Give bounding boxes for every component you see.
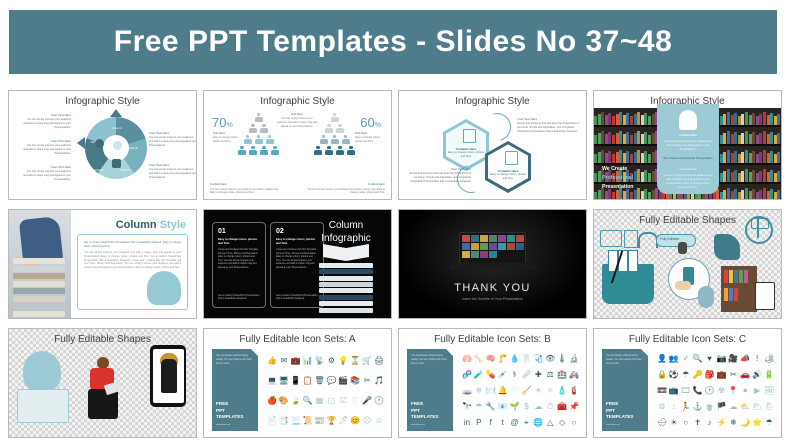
book-spine — [598, 133, 601, 144]
book-spine — [745, 112, 748, 125]
book-spine — [623, 153, 626, 163]
book-spine — [619, 150, 622, 163]
slide-7-subtitle: Insert the Subtitle of Your Presentation — [399, 297, 586, 301]
icon-46-icon: ⌖ — [524, 419, 529, 427]
book-spine — [738, 154, 741, 163]
book-spine — [605, 153, 608, 163]
icon-45-icon: ♪ — [708, 419, 712, 427]
icon-32-icon: ↕ — [672, 403, 676, 411]
slide-5-title: Column Style — [116, 219, 186, 231]
book-spine — [741, 152, 744, 163]
content-panel: Contents Here You can simply impress you… — [657, 104, 719, 194]
book-spine — [644, 151, 647, 163]
people-pyramid-left — [238, 113, 279, 157]
icon-35-icon: 📰 — [315, 417, 325, 425]
icon-8-icon: 👁 — [545, 355, 555, 363]
book-spine — [720, 135, 723, 144]
book-spine — [770, 113, 773, 125]
icon-6-icon: 🦷 — [521, 355, 531, 363]
icon-39-icon: 🧰 — [557, 403, 567, 411]
icon-23-icon: 🍃 — [291, 397, 301, 405]
book-spine — [723, 171, 726, 182]
book-spine — [641, 134, 644, 144]
book-spine — [644, 170, 647, 182]
icon-20-icon: 🎵 — [374, 377, 384, 385]
book-spine — [756, 135, 759, 144]
icon-27-icon: ☑ — [340, 397, 347, 405]
stat-note-left: Text Here Easy to change colors, photos … — [213, 132, 239, 144]
chart-icon — [112, 159, 121, 168]
free-ppt-templates-card: You can Resize without losing quality. Y… — [407, 349, 453, 431]
book-spine — [616, 114, 619, 125]
book-spine — [741, 114, 744, 125]
book-spine — [652, 190, 655, 199]
book-spine — [652, 171, 655, 182]
card-brand: FREE PPT TEMPLATES — [216, 401, 243, 420]
book-spine — [612, 154, 615, 163]
laptop-graphic — [451, 232, 535, 276]
slide-7-title: THANK YOU — [399, 282, 586, 294]
icon-1-icon: 🫁 — [462, 355, 472, 363]
icon-32-icon: ☂ — [475, 403, 482, 411]
slide-thumbnail-3[interactable]: Infographic Style Contents Here Easy to … — [398, 90, 587, 200]
slide-thumbnail-9[interactable]: Fully Editable Shapes — [8, 328, 197, 438]
icon-3-icon: 🧠 — [486, 355, 496, 363]
book-spine — [601, 150, 604, 163]
icon-50-icon: ☂ — [765, 419, 772, 427]
icon-13-icon: 📱 — [291, 377, 301, 385]
book-spine — [720, 116, 723, 125]
book-spine — [641, 191, 644, 199]
panel-mid-heading: We Create Professional Presentation — [662, 156, 714, 161]
book-spine — [612, 135, 615, 144]
icon-35-icon: 🍵 — [705, 403, 715, 411]
book-spine — [767, 134, 770, 144]
slide-thumbnail-4[interactable]: Infographic Style Contents Here You can … — [593, 90, 782, 200]
icon-15-icon: ⚕ — [512, 371, 516, 379]
icon-36-icon: 🏴 — [716, 403, 726, 411]
slide-thumbnail-7[interactable]: THANK YOU Insert the Subtitle of Your Pr… — [398, 209, 587, 319]
slide-thumbnail-5[interactable]: Column Style Get a modern PowerPoint Pre… — [8, 209, 197, 319]
stat-value-left: 70% — [212, 115, 233, 130]
icon-35-icon: 🌱 — [510, 403, 520, 411]
icon-34-icon: 📧 — [498, 403, 508, 411]
icon-47-icon: ❄ — [730, 419, 737, 427]
open-book-graphic — [323, 246, 369, 260]
icon-31-icon: 🔭 — [462, 403, 472, 411]
icon-14-icon: 📋 — [303, 377, 313, 385]
card-brand: FREE PPT TEMPLATES — [411, 401, 438, 420]
book-spine — [626, 151, 629, 163]
icon-37-icon: ☁ — [534, 403, 542, 411]
book-spine — [777, 114, 780, 125]
icon-14-icon: 💉 — [498, 371, 508, 379]
book-spine — [637, 169, 640, 182]
icon-48-icon: △ — [547, 419, 553, 427]
book-spine — [752, 113, 755, 125]
book-spine — [767, 115, 770, 125]
icon-5-icon: 💧 — [510, 355, 520, 363]
icon-7-icon: 💡 — [338, 357, 348, 365]
book-spine — [634, 114, 637, 125]
editable-pill-button[interactable]: Fully Editable — [656, 234, 696, 247]
book-spine — [598, 152, 601, 163]
computer-mouse-icon — [698, 286, 714, 308]
slide-3-callout: Your Text Here Simple and Contents that … — [517, 117, 579, 133]
icon-29-icon: 🎤 — [362, 397, 372, 405]
panel-sub-body: You can simply impress your audience and… — [662, 174, 714, 190]
icon-17-icon: ✂ — [730, 371, 737, 379]
icon-11-icon: 💻 — [267, 377, 277, 385]
book-spine — [770, 189, 773, 199]
icon-34-icon: 📜 — [303, 417, 313, 425]
book-spine — [723, 190, 726, 199]
icon-3-icon: 💼 — [291, 357, 301, 365]
book-spine — [727, 112, 730, 125]
monitor-icon — [600, 230, 622, 247]
icon-36-icon: $ — [524, 403, 528, 411]
hexagon-shape-2 — [485, 141, 531, 193]
icon-41-icon: in — [464, 419, 470, 427]
book-spine — [770, 170, 773, 182]
book-spine — [731, 115, 734, 125]
template-gallery-page: Free PPT Templates - Slides No 37~48 Inf… — [0, 0, 786, 445]
center-note: Text Here You can simply impress your au… — [276, 113, 318, 128]
gear-icon — [95, 139, 104, 148]
icon-18-icon: 📚 — [350, 377, 360, 385]
icon-9-icon: 🛒 — [362, 357, 372, 365]
icon-6-icon: ⚙ — [328, 357, 335, 365]
book-spine — [745, 188, 748, 199]
slide-3-title: Infographic Style — [399, 96, 586, 107]
book-spine — [731, 191, 734, 199]
people-pyramid-right — [314, 113, 355, 157]
book-spine — [720, 173, 723, 182]
book-spine — [777, 171, 780, 182]
book-spine — [612, 116, 615, 125]
book-spine — [734, 113, 737, 125]
icon-45-icon: @ — [510, 419, 518, 427]
slide-11-title: Fully Editable Icon Sets: B — [399, 334, 586, 345]
book-spine — [634, 133, 637, 144]
icon-6-icon: 📷 — [716, 355, 726, 363]
book-spine — [630, 192, 633, 199]
book-spine — [763, 150, 766, 163]
icon-18-icon: 🚗 — [740, 371, 750, 379]
book-spine — [619, 112, 622, 125]
icon-21-icon: 📼 — [657, 387, 667, 395]
icon-10-icon: 🖨 — [374, 357, 384, 365]
icon-29-icon: ▶ — [754, 387, 760, 395]
slide-1-callout: Your Text Here You can simply impress yo… — [149, 163, 196, 179]
book-spine — [741, 171, 744, 182]
book-spine — [648, 116, 651, 125]
book-spine — [770, 132, 773, 144]
book-spine — [731, 172, 734, 182]
icon-26-icon: ☢ — [718, 387, 725, 395]
man-with-tablet-figure — [83, 357, 123, 423]
slide-thumbnail-6[interactable]: 01 Easy to change colors, photos and Tex… — [203, 209, 392, 319]
icon-1-icon: 👍 — [267, 357, 277, 365]
icon-4-icon: 📊 — [303, 357, 313, 365]
icon-25-icon: ♡ — [511, 387, 518, 395]
icon-4-icon: 🦵 — [498, 355, 508, 363]
book-spine — [608, 113, 611, 125]
icon-19-icon: ✂ — [364, 377, 371, 385]
slide-thumbnail-11[interactable]: Fully Editable Icon Sets: B You can Resi… — [398, 328, 587, 438]
book-spine — [734, 132, 737, 144]
reading-person-shape — [714, 234, 740, 260]
book-spine — [745, 169, 748, 182]
free-ppt-templates-card: You can Resize without losing quality. Y… — [212, 349, 258, 431]
book-spine — [752, 170, 755, 182]
slide-1-title: Infographic Style — [9, 96, 196, 107]
slide-10-title: Fully Editable Icon Sets: A — [204, 334, 391, 345]
page-title: Free PPT Templates - Slides No 37~48 — [114, 25, 673, 59]
book-spine — [767, 191, 770, 199]
icon-7-icon: 🩺 — [533, 355, 543, 363]
book-spine — [623, 115, 626, 125]
book-spine — [594, 192, 597, 199]
icon-12-icon: 🧪 — [474, 371, 484, 379]
book-spine — [619, 131, 622, 144]
book-spine — [601, 131, 604, 144]
column-body-text: You can simply impress your audience and… — [84, 251, 181, 270]
book-spine — [644, 113, 647, 125]
icon-40-icon: 📌 — [569, 403, 579, 411]
icon-38-icon: ⏱ — [547, 403, 553, 411]
book-spine — [777, 152, 780, 163]
icon-30-icon: 🕐 — [374, 397, 384, 405]
wheel-segment-label: Option B — [125, 147, 141, 150]
book-spine — [648, 154, 651, 163]
book-spine — [749, 191, 752, 199]
book-spine — [777, 190, 780, 199]
icon-42-icon: P — [476, 419, 481, 427]
icon-19-icon: 🔊 — [752, 371, 762, 379]
book-spine — [763, 112, 766, 125]
book-spine — [630, 135, 633, 144]
book-spine — [623, 134, 626, 144]
hexagon-label-2: Contents Here Easy to change colors, pho… — [488, 169, 528, 181]
icon-43-icon: f — [490, 419, 492, 427]
icon-32-icon: 📑 — [279, 417, 289, 425]
slide-9-title: Fully Editable Shapes — [9, 334, 196, 345]
book-spine — [652, 133, 655, 144]
book-spine — [626, 113, 629, 125]
book-spine — [630, 154, 633, 163]
icon-41-icon: 🌧 — [657, 419, 667, 427]
icon-11-icon: 🧬 — [462, 371, 472, 379]
wheel-segment-label: Option C — [117, 169, 133, 172]
book-spine — [763, 169, 766, 182]
book-spine — [767, 172, 770, 182]
slide-12-title: Fully Editable Icon Sets: C — [594, 334, 781, 345]
book-spine — [745, 131, 748, 144]
book-spine — [731, 153, 734, 163]
icon-28-icon: ⚛ — [547, 387, 554, 395]
icon-19-icon: 🏥 — [557, 371, 567, 379]
icon-49-icon: ◇ — [559, 419, 565, 427]
book-spine — [644, 189, 647, 199]
icon-3-icon: ♂ — [683, 355, 689, 363]
book-spine — [630, 116, 633, 125]
icon-44-icon: t — [502, 419, 504, 427]
slide-thumbnail-2[interactable]: Infographic Style 70% Text Here Easy to … — [203, 90, 392, 200]
bookshelf-icon — [721, 266, 757, 312]
woman-in-phone-figure — [150, 345, 186, 407]
slide-6-title: Column Infographic — [309, 220, 383, 245]
open-laptop-shape — [17, 389, 69, 423]
book-spine — [734, 151, 737, 163]
book-spine — [777, 133, 780, 144]
icon-37-icon: ☁ — [729, 403, 737, 411]
book-spine — [727, 150, 730, 163]
icon-46-icon: ⚡ — [716, 419, 726, 427]
book-spine — [594, 154, 597, 163]
icon-22-icon: ❄ — [475, 387, 482, 395]
icon-30-icon: 🧯 — [569, 387, 579, 395]
icon-4-icon: 🔍 — [693, 355, 703, 363]
icon-20-icon: 🚑 — [569, 371, 579, 379]
hexagon-label-1: Contents Here Easy to change colors, pho… — [446, 147, 486, 159]
book-spine — [734, 189, 737, 199]
panel-heading: Contents Here — [662, 134, 714, 138]
icon-14-icon: 🔑 — [693, 371, 703, 379]
book-spine — [752, 151, 755, 163]
icon-48-icon: 🌙 — [740, 419, 750, 427]
book-spine — [634, 152, 637, 163]
icon-25-icon: 🕐 — [705, 387, 715, 395]
book-spine — [594, 116, 597, 125]
icon-36-icon: 🏆 — [326, 417, 336, 425]
book-spine — [734, 170, 737, 182]
icon-9-icon: 🌡 — [557, 355, 567, 363]
book-spine — [605, 191, 608, 199]
book-spine — [641, 153, 644, 163]
icon-grid-c: 👤👥♂🔍♥📷🎥📣!🏕🔒⚽☂🔑🎒💼✂🚗🔊🔋📼📺🎞📞🕐☢📍⏺▶🖼⚙↕🏃⚓🍵🏴☁⛅🌥🌦… — [656, 351, 775, 431]
book-spine — [749, 134, 752, 144]
book-spine — [738, 192, 741, 199]
icon-24-icon: 📞 — [693, 387, 703, 395]
icon-17-icon: 🎬 — [338, 377, 348, 385]
icon-11-icon: 🔒 — [657, 371, 667, 379]
book-spine — [655, 188, 658, 199]
reading-figure-silhouette — [23, 351, 61, 391]
slide-thumbnail-grid: Infographic Style Option A Option B Opti… — [8, 90, 780, 438]
icon-40-icon: 🌦 — [764, 403, 774, 411]
book-spine — [641, 172, 644, 182]
card-note: You can Resize without losing quality. Y… — [606, 354, 643, 366]
book-spine — [623, 191, 626, 199]
book-spine — [745, 150, 748, 163]
icon-13-icon: 💊 — [486, 371, 496, 379]
book-spine — [720, 192, 723, 199]
icon-15-icon: 🎒 — [705, 371, 715, 379]
headphones-icon — [638, 232, 658, 248]
book-spine — [770, 151, 773, 163]
book-spine — [594, 173, 597, 182]
icon-27-icon: 📍 — [728, 387, 738, 395]
book-spine — [774, 154, 777, 163]
icon-34-icon: ⚓ — [693, 403, 703, 411]
icon-27-icon: ☀ — [535, 387, 542, 395]
book-spine — [759, 171, 762, 182]
book-spine — [756, 154, 759, 163]
icon-8-icon: 📣 — [740, 355, 750, 363]
icon-33-icon: 🏃 — [681, 403, 691, 411]
book-spine — [598, 190, 601, 199]
icon-22-icon: 📺 — [669, 387, 679, 395]
column-box-1: 01 Easy to change colors, photos and Tex… — [212, 222, 266, 308]
slide-1-callout: Your Text Here You can simply impress yo… — [23, 165, 71, 181]
book-spine — [601, 112, 604, 125]
book-spine — [594, 135, 597, 144]
stat-value-right: 60% — [360, 115, 381, 130]
free-ppt-templates-card: You can Resize without losing quality. Y… — [602, 349, 648, 431]
book-spine — [738, 135, 741, 144]
book-spine — [774, 173, 777, 182]
icon-31-icon: ⚙ — [658, 403, 665, 411]
book-spine — [598, 171, 601, 182]
wheel-segment-label: Option A — [109, 127, 125, 130]
slide-thumbnail-1[interactable]: Infographic Style Option A Option B Opti… — [8, 90, 197, 200]
icon-39-icon: 🌥 — [752, 403, 762, 411]
icon-22-icon: 🎨 — [279, 397, 289, 405]
download-icon — [624, 230, 638, 248]
book-spine — [756, 116, 759, 125]
book-spine — [637, 150, 640, 163]
slide-thumbnail-10[interactable]: Fully Editable Icon Sets: A You can Resi… — [203, 328, 392, 438]
icon-30-icon: 🖼 — [764, 387, 774, 395]
slide-thumbnail-8[interactable]: Fully Editable Shapes Fully Editable — [593, 209, 782, 319]
book-spine — [756, 192, 759, 199]
icon-24-icon: 🔍 — [303, 397, 313, 405]
icon-10-icon: 🔬 — [569, 355, 579, 363]
icon-25-icon: ▦ — [316, 397, 324, 405]
wheel-arrow-icon — [110, 109, 122, 117]
slide-2-footer: Content Here You can simply impress your… — [299, 183, 385, 195]
book-spine — [738, 116, 741, 125]
slide-thumbnail-12[interactable]: Fully Editable Icon Sets: C You can Resi… — [593, 328, 782, 438]
book-spine — [608, 151, 611, 163]
icon-16-icon: 💼 — [716, 371, 726, 379]
book-spine — [648, 135, 651, 144]
shopping-basket-icon — [602, 268, 654, 304]
slide-1-callout: Your Text Here You can simply impress yo… — [149, 131, 196, 147]
wheel-arrow-icon — [77, 137, 85, 149]
book-spine — [749, 172, 752, 182]
icon-16-icon: 🩹 — [521, 371, 531, 379]
book-spine — [716, 189, 719, 199]
book-spine — [648, 192, 651, 199]
icon-15-icon: 🗑 — [314, 377, 324, 385]
book-spine — [767, 153, 770, 163]
book-spine — [749, 153, 752, 163]
book-stack-graphic — [319, 263, 373, 314]
bulb-icon — [113, 141, 122, 150]
icon-16-icon: 💬 — [326, 377, 336, 385]
cursor-hand-icon — [678, 242, 687, 254]
book-spine — [741, 190, 744, 199]
icon-8-icon: ⌛ — [350, 357, 360, 365]
panel-body: You can simply impress your audience and… — [662, 140, 714, 152]
card-url: www.allppt.com — [411, 424, 425, 426]
book-spine — [637, 131, 640, 144]
icon-12-icon: 🖥 — [279, 377, 289, 385]
book-spine — [634, 190, 637, 199]
book-spine — [652, 152, 655, 163]
